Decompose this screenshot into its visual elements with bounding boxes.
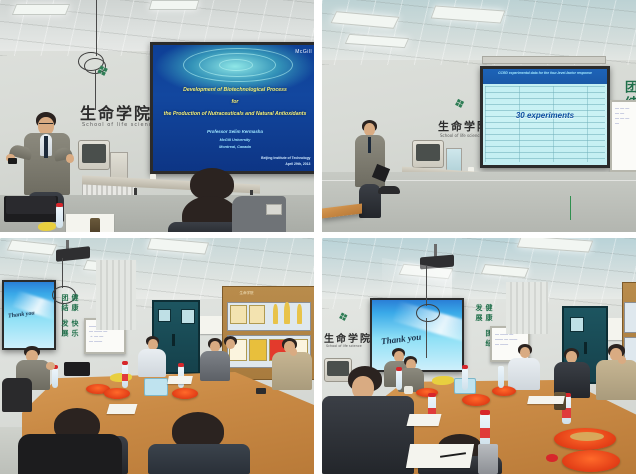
trophy (273, 304, 279, 324)
lecture-room-scene: ❖ 生命学院 School of life science McGill Dev… (0, 0, 314, 232)
wall-text-chinese: 生命学院 (80, 100, 152, 124)
photo-panel-bottom-right: Thank you ❖ 生命学院 School of life science … (322, 238, 636, 474)
attendee (136, 336, 168, 378)
thermos (478, 444, 498, 474)
whiteboard-writing: — — —— —— — —— (612, 102, 632, 128)
ceiling-light (12, 4, 70, 15)
wall-text-chinese: 生命学院 (324, 330, 372, 345)
mcgill-logo: McGill (295, 49, 312, 55)
slide-experiment-count: 30 experiments (483, 111, 607, 120)
attendee-jacket (596, 360, 636, 400)
cable-loop (416, 304, 440, 322)
laptop-screen (6, 196, 56, 214)
tea-cup (404, 386, 413, 394)
slide-affiliation-1: McGill University (161, 138, 309, 142)
cabinet-shelf (624, 302, 636, 333)
attendee-jacket (148, 444, 250, 474)
wall-text-english: School of life science (82, 122, 157, 128)
attendee-face (520, 347, 530, 358)
water-bottle (462, 368, 468, 390)
crt-monitor (412, 140, 444, 168)
water-bottle (56, 206, 63, 228)
snack-bowl (492, 386, 516, 396)
slide-title-line1: Development of Biotechnological Process (161, 87, 309, 94)
lecture-room-wide-scene: ❖ 生命学院 School of life science CCRD exper… (322, 0, 636, 232)
attendee-jacket (272, 352, 312, 390)
photo-panel-top-right: ❖ 生命学院 School of life science CCRD exper… (322, 0, 636, 232)
document (527, 396, 565, 404)
document (167, 376, 193, 384)
attendee (596, 344, 636, 400)
attendee (508, 344, 542, 390)
bananas (110, 373, 132, 382)
slide-closing-text: Thank you (8, 311, 35, 320)
monitor-screen (82, 144, 107, 163)
office-chair (378, 186, 400, 194)
award-plaque (249, 305, 266, 324)
bowl-snacks (570, 432, 604, 441)
presenter-tie (368, 137, 371, 153)
slide-data-grid (485, 86, 604, 162)
foreground-attendee (148, 412, 252, 474)
foreground-attendee (322, 366, 418, 474)
presenter-tie (44, 136, 48, 158)
hanging-cable (96, 0, 97, 56)
bottle-cap (122, 361, 128, 365)
wall-partition (96, 260, 136, 330)
wall-notice (200, 316, 222, 334)
bottle-cap (178, 363, 184, 367)
snack-bowl (462, 394, 490, 406)
wall-outlet (266, 204, 282, 215)
slide-date: April 29th, 2013 (285, 162, 310, 166)
hanging-cable (426, 318, 427, 358)
monitor-screen (416, 144, 441, 162)
bottle-cap (546, 454, 558, 462)
cabinet-label: 生命学院 (240, 291, 254, 296)
slide-presenter: Professor Selim Kermasha (161, 129, 309, 134)
attendee (218, 336, 244, 370)
office-chair (2, 378, 32, 412)
bananas (432, 376, 454, 385)
photo-panel-bottom-left: Thank you 健康 快乐 团结 发展 —— — ——— —— —→ — —… (0, 238, 314, 474)
bottle-cap (428, 393, 436, 397)
bottle-label (480, 428, 490, 438)
slide-header-text: CCRD experimental data for the four-leve… (487, 71, 604, 75)
award-certificate (249, 339, 268, 361)
presenter-hand (46, 362, 55, 370)
water-bottle (396, 370, 402, 390)
presenter-glasses (39, 123, 53, 126)
slide-title-line3: the Production of Nutraceuticals and Nat… (161, 111, 309, 118)
photo-panel-top-left: ❖ 生命学院 School of life science McGill Dev… (0, 0, 314, 232)
wall-partition (506, 282, 548, 334)
tissue-box (144, 378, 168, 396)
bottle-cap (56, 203, 63, 207)
slide-affiliation-2: Montreal, Canada (161, 145, 309, 149)
thermos (90, 218, 100, 232)
attendee (272, 338, 314, 392)
wall-slogan-vertical: 健康 快乐 团结 发展 (60, 294, 80, 354)
snack-bowl (562, 450, 620, 472)
presenter-hand-right (66, 154, 74, 163)
closing-slide: Thank you (4, 282, 54, 348)
title-slide: McGill Development of Biotechnological P… (153, 45, 314, 171)
attendee-hand (290, 348, 297, 356)
attendee-hand (618, 356, 626, 364)
whiteboard: — — —— —— — —— (610, 100, 636, 172)
meeting-room-scene: Thank you 健康 快乐 团结 发展 —— — ——— —— —→ — —… (0, 238, 314, 474)
hanging-cable (62, 258, 63, 288)
door-window (181, 309, 194, 324)
wall-text-english: School of life science (440, 133, 482, 138)
door-window (158, 309, 171, 322)
slide-title-line2: for (161, 99, 309, 106)
award-plaque (230, 305, 247, 324)
bottle-cap (462, 365, 468, 369)
bottle-cap (480, 410, 490, 415)
bananas (38, 222, 56, 231)
wall-text-english: School of life science (326, 344, 362, 348)
trophy (297, 304, 303, 323)
door-handle (172, 334, 175, 346)
slide-closing-text: Thank you (381, 331, 422, 346)
trophy (284, 302, 290, 324)
projection-screen: McGill Development of Biotechnological P… (150, 42, 314, 174)
door-window (570, 317, 584, 332)
hanging-cable (426, 266, 427, 306)
presenter-pointer (8, 158, 17, 164)
photo-collage: ❖ 生命学院 School of life science McGill Dev… (0, 0, 640, 474)
document (407, 414, 442, 426)
snack-bowl (172, 388, 198, 399)
phone (256, 388, 266, 394)
ceiling-light (149, 0, 200, 10)
projection-screen: CCRD experimental data for the four-leve… (480, 66, 610, 168)
attendee-face (226, 339, 235, 349)
attendee-shirt (138, 349, 166, 377)
attendee (554, 348, 592, 398)
meeting-room-scene-2: Thank you ❖ 生命学院 School of life science … (322, 238, 636, 474)
crt-monitor (78, 140, 110, 170)
bottle-cap (396, 367, 402, 371)
screen-mount (482, 56, 606, 64)
bottle-label (122, 374, 128, 381)
water-bottle (498, 366, 504, 388)
attendee-jacket (322, 396, 414, 474)
laptop (64, 362, 90, 376)
data-table-slide: CCRD experimental data for the four-leve… (483, 69, 607, 165)
snack-bowl (104, 388, 130, 399)
floor-cable (570, 196, 571, 220)
slide-host: Beijing Institute of Technology (261, 156, 310, 160)
attendee-shirt (508, 358, 540, 390)
office-chair (18, 434, 122, 474)
projection-screen: Thank you (2, 280, 56, 350)
